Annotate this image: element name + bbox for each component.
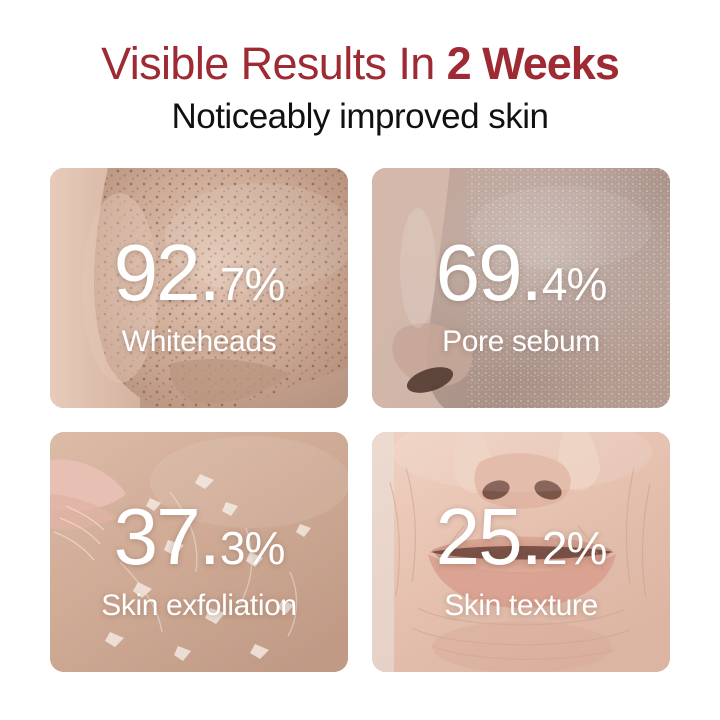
stat-value: 25.2% (436, 497, 607, 577)
page-title-strong: 2 Weeks (447, 38, 619, 89)
stat-card-body: 37.3% Skin exfoliation (50, 432, 348, 672)
stat-caption: Skin exfoliation (101, 589, 296, 623)
stat-card-body: 92.7% Whiteheads (50, 168, 348, 408)
stat-value: 69.4% (436, 233, 607, 313)
page-title-light: Visible Results In (101, 38, 446, 89)
stat-card-skin-exfoliation: 37.3% Skin exfoliation (50, 432, 348, 672)
stat-value-minor: 7% (220, 261, 284, 307)
stat-caption: Whiteheads (122, 325, 276, 359)
stat-value-major: 37. (114, 497, 219, 577)
stat-value-major: 92. (114, 233, 219, 313)
stat-card-body: 25.2% Skin texture (372, 432, 670, 672)
stat-caption: Pore sebum (442, 325, 600, 359)
results-poster: Visible Results In 2 Weeks Noticeably im… (0, 0, 720, 720)
stat-value-major: 69. (436, 233, 541, 313)
stat-value-minor: 4% (542, 261, 606, 307)
stat-value-minor: 2% (542, 525, 606, 571)
stat-value: 37.3% (114, 497, 285, 577)
stat-card-body: 69.4% Pore sebum (372, 168, 670, 408)
page-subtitle: Noticeably improved skin (0, 90, 720, 138)
stat-value-minor: 3% (220, 525, 284, 571)
stat-card-whiteheads: 92.7% Whiteheads (50, 168, 348, 408)
header-block: Visible Results In 2 Weeks Noticeably im… (0, 0, 720, 138)
page-title: Visible Results In 2 Weeks (0, 0, 720, 90)
stat-value-major: 25. (436, 497, 541, 577)
stat-card-pore-sebum: 69.4% Pore sebum (372, 168, 670, 408)
stat-caption: Skin texture (444, 589, 598, 623)
stat-card-skin-texture: 25.2% Skin texture (372, 432, 670, 672)
stat-value: 92.7% (114, 233, 285, 313)
stat-card-grid: 92.7% Whiteheads (50, 168, 670, 672)
